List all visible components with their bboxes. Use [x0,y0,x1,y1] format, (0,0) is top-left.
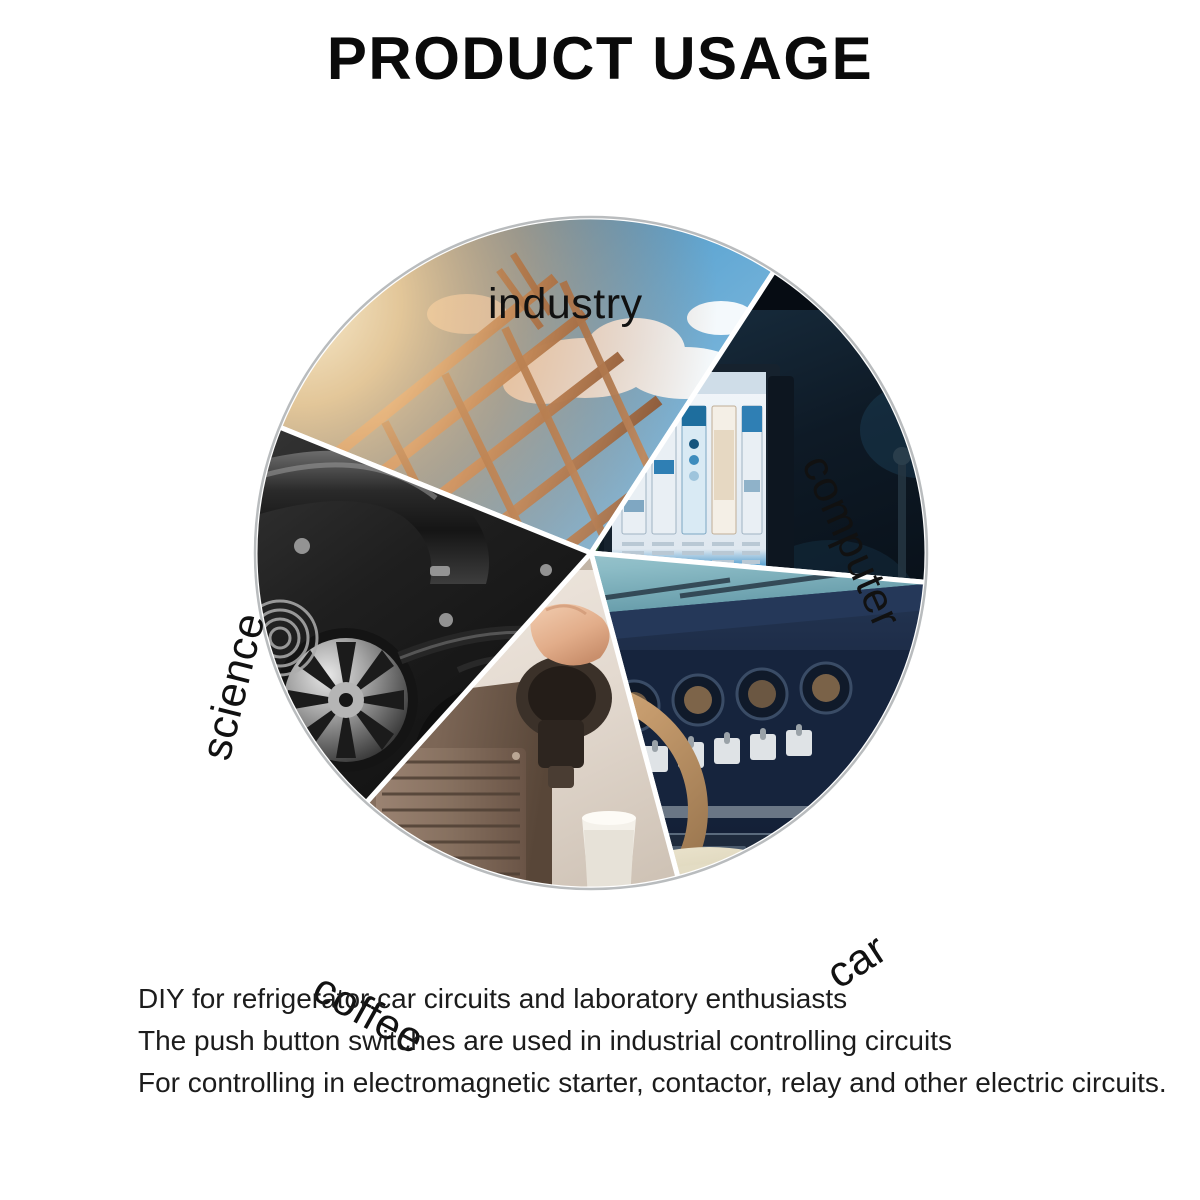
description-line-2: The push button switches are used in ind… [138,1020,1178,1062]
description-line-3: For controlling in electromagnetic start… [138,1062,1178,1104]
description-line-1: DIY for refrigerator car circuits and la… [138,978,1178,1020]
pie-svg [0,130,1200,950]
description-block: DIY for refrigerator car circuits and la… [138,978,1178,1104]
page-title: PRODUCT USAGE [0,26,1200,92]
product-usage-pie-chart: industry computer car coffee science [0,130,1200,950]
pie-label-industry: industry [488,280,643,329]
